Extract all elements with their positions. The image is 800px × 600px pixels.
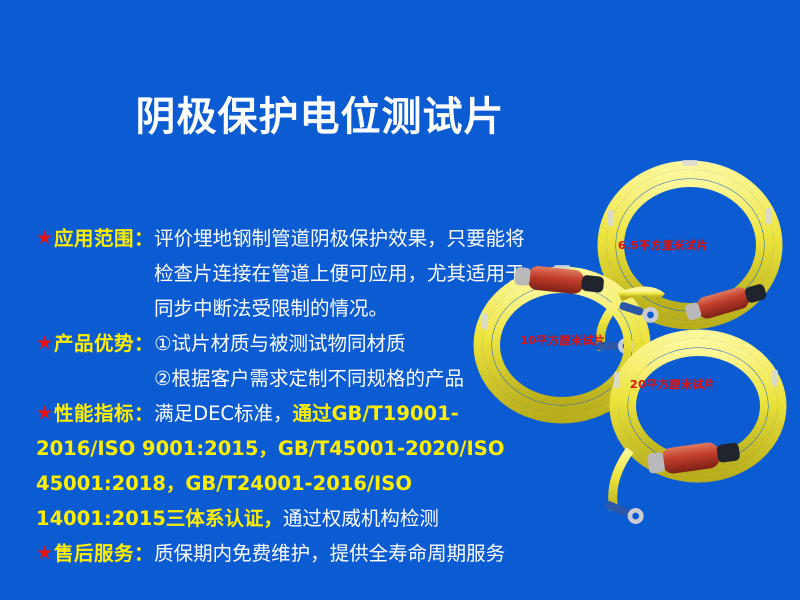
performance-segment-testing: 通过权威机构检测 <box>283 507 439 530</box>
bullet-performance-indicators: ★性能指标：满足DEC标准，通过GB/T19001-2016/ISO 9001:… <box>36 396 530 536</box>
bullet-after-sales-service: ★售后服务：质保期内免费维护，提供全寿命周期服务 <box>36 536 530 571</box>
photo-label-10: 10平方厘米试片 <box>520 332 605 348</box>
bullet-application-scope: ★应用范围：评价埋地钢制管道阴极保护效果，只要能将 检查片连接在管道上便可应用，… <box>36 221 530 326</box>
bullet-line-1: 评价埋地钢制管道阴极保护效果，只要能将 <box>154 227 525 250</box>
bullet-heading-product-advantages: 产品优势： <box>54 332 154 355</box>
product-photo-coil-bottom-right <box>600 320 800 535</box>
page-title: 阴极保护电位测试片 <box>0 95 640 139</box>
content-body: ★应用范围：评价埋地钢制管道阴极保护效果，只要能将 检查片连接在管道上便可应用，… <box>36 221 530 571</box>
bullet-heading-performance-indicators: 性能指标： <box>54 402 154 425</box>
bullet-line-3: 同步中断法受限制的情况。 <box>36 291 530 326</box>
performance-segment-standard: 满足DEC标准， <box>154 402 292 425</box>
bullet-line-2: 检查片连接在管道上便可应用，尤其适用于 <box>36 256 530 291</box>
advantage-item-2: ②根据客户需求定制不同规格的产品 <box>36 361 530 396</box>
star-bullet-icon: ★ <box>36 402 53 424</box>
after-sales-line-1: 质保期内免费维护，提供全寿命周期服务 <box>154 542 505 565</box>
star-bullet-icon: ★ <box>36 332 53 354</box>
star-bullet-icon: ★ <box>36 227 53 249</box>
bullet-heading-application-scope: 应用范围： <box>54 227 154 250</box>
star-bullet-icon: ★ <box>36 542 53 564</box>
photo-label-20: 20平方厘米试片 <box>630 376 715 392</box>
slide-canvas: 阴极保护电位测试片 ★应用范围：评价埋地钢制管道阴极保护效果，只要能将 检查片连… <box>0 0 800 600</box>
advantage-item-1: ①试片材质与被测试物同材质 <box>154 332 405 355</box>
bullet-heading-after-sales-service: 售后服务： <box>54 542 154 565</box>
bullet-product-advantages: ★产品优势：①试片材质与被测试物同材质 ②根据客户需求定制不同规格的产品 <box>36 326 530 396</box>
product-photo-group: 6.5平方厘米试片 <box>470 150 800 530</box>
cable-coil-illustration <box>600 320 800 535</box>
